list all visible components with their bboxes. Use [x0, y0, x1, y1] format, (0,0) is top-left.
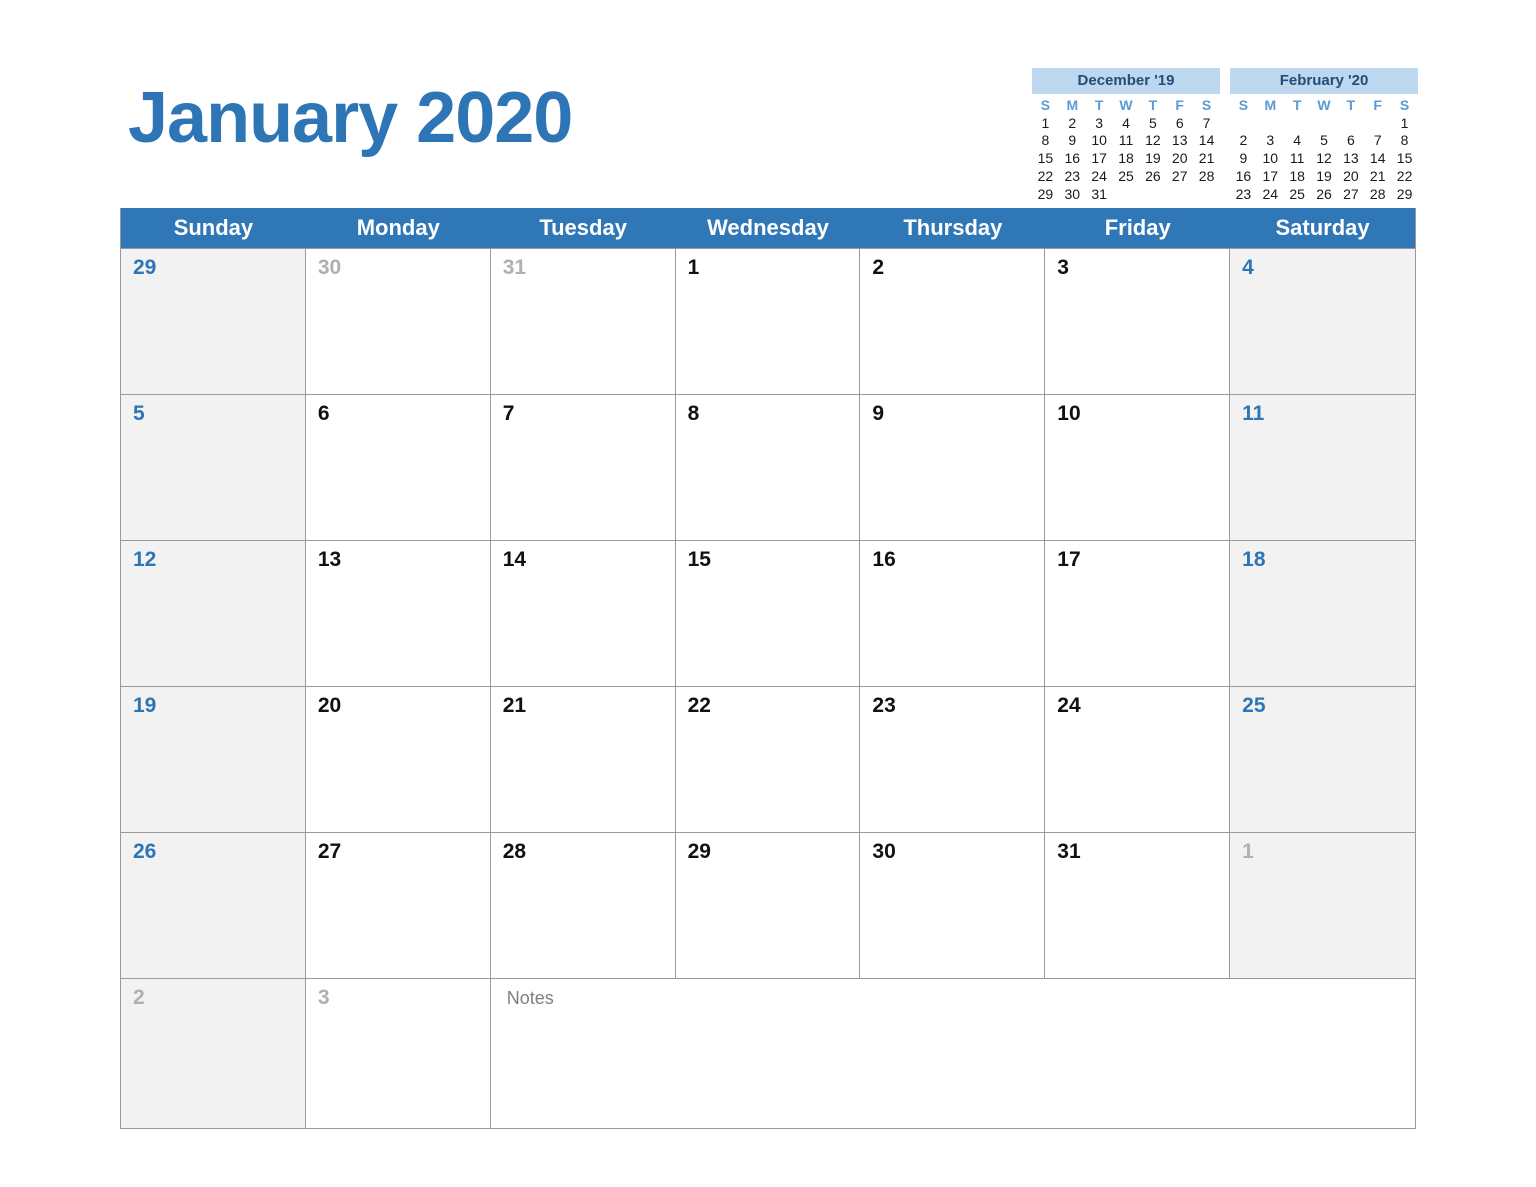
mini-day[interactable]: 5 — [1311, 132, 1338, 150]
mini-day[interactable]: 22 — [1032, 168, 1059, 186]
mini-day[interactable]: 29 — [1391, 186, 1418, 204]
mini-day[interactable]: 18 — [1113, 150, 1140, 168]
week-row: 5 6 7 8 9 10 11 — [121, 394, 1415, 540]
day-number: 1 — [688, 257, 860, 278]
day-number: 2 — [133, 987, 305, 1008]
mini-day[interactable]: 19 — [1139, 150, 1166, 168]
day-number: 15 — [688, 549, 860, 570]
day-number: 29 — [133, 257, 305, 278]
day-cell[interactable]: 17 — [1045, 540, 1230, 686]
day-cell[interactable]: 21 — [491, 686, 676, 832]
mini-day[interactable]: 11 — [1113, 132, 1140, 150]
day-number: 4 — [1242, 257, 1415, 278]
mini-day[interactable]: 20 — [1337, 168, 1364, 186]
day-number: 1 — [1242, 841, 1415, 862]
day-cell[interactable]: 28 — [491, 832, 676, 978]
weekday-header-friday: Friday — [1045, 208, 1230, 248]
week-row: 19 20 21 22 23 24 25 — [121, 686, 1415, 832]
day-number: 16 — [872, 549, 1044, 570]
day-number: 30 — [318, 257, 490, 278]
mini-day[interactable]: 26 — [1311, 186, 1338, 204]
mini-day[interactable]: 4 — [1113, 115, 1140, 133]
mini-dow-wed: W — [1113, 97, 1140, 115]
page-title: January 2020 — [128, 82, 572, 154]
mini-day[interactable]: 28 — [1193, 168, 1220, 186]
notes-field[interactable]: Notes — [491, 978, 1415, 1128]
day-cell[interactable]: 11 — [1230, 394, 1415, 540]
day-cell[interactable]: 2 — [121, 978, 306, 1128]
mini-day[interactable]: 8 — [1032, 132, 1059, 150]
mini-day[interactable]: 12 — [1311, 150, 1338, 168]
day-number: 3 — [1057, 257, 1229, 278]
mini-calendars-group: December '19 S M T W T F S 1 2 3 4 5 6 7… — [1032, 68, 1418, 204]
mini-day[interactable]: 15 — [1391, 150, 1418, 168]
mini-day[interactable]: 17 — [1086, 150, 1113, 168]
mini-day[interactable]: 29 — [1032, 186, 1059, 204]
mini-day-blank — [1311, 115, 1338, 133]
day-cell[interactable]: 6 — [306, 394, 491, 540]
mini-dow-fri: F — [1364, 97, 1391, 115]
mini-dow-thu: T — [1337, 97, 1364, 115]
mini-day[interactable]: 6 — [1166, 115, 1193, 133]
day-number: 30 — [872, 841, 1044, 862]
day-cell[interactable]: 16 — [860, 540, 1045, 686]
day-cell[interactable]: 31 — [491, 248, 676, 394]
mini-calendar-title-december: December '19 — [1032, 68, 1220, 94]
day-number: 29 — [688, 841, 860, 862]
mini-day[interactable]: 20 — [1166, 150, 1193, 168]
day-cell[interactable]: 23 — [860, 686, 1045, 832]
day-cell[interactable]: 1 — [676, 248, 861, 394]
mini-day[interactable]: 3 — [1257, 132, 1284, 150]
day-number: 8 — [688, 403, 860, 424]
day-number: 21 — [503, 695, 675, 716]
day-number: 6 — [318, 403, 490, 424]
week-row: 29 30 31 1 2 3 4 — [121, 248, 1415, 394]
day-cell[interactable]: 3 — [1045, 248, 1230, 394]
mini-day[interactable]: 21 — [1193, 150, 1220, 168]
day-cell[interactable]: 26 — [121, 832, 306, 978]
mini-day[interactable]: 25 — [1284, 186, 1311, 204]
mini-day[interactable]: 3 — [1086, 115, 1113, 133]
mini-dow-tue: T — [1086, 97, 1113, 115]
mini-calendar-grid-february: S M T W T F S 1 2 3 4 5 6 7 — [1230, 97, 1418, 204]
mini-day[interactable]: 1 — [1032, 115, 1059, 133]
mini-calendar-february-2020[interactable]: February '20 S M T W T F S 1 2 3 4 — [1230, 68, 1418, 204]
day-cell[interactable]: 29 — [676, 832, 861, 978]
day-number: 31 — [503, 257, 675, 278]
mini-day[interactable]: 16 — [1230, 168, 1257, 186]
mini-day-blank — [1230, 115, 1257, 133]
month-calendar-grid: Sunday Monday Tuesday Wednesday Thursday… — [120, 208, 1416, 1129]
mini-day[interactable]: 4 — [1284, 132, 1311, 150]
day-cell[interactable]: 30 — [860, 832, 1045, 978]
mini-dow-sat: S — [1193, 97, 1220, 115]
day-cell[interactable]: 25 — [1230, 686, 1415, 832]
mini-day[interactable]: 19 — [1311, 168, 1338, 186]
day-cell[interactable]: 15 — [676, 540, 861, 686]
mini-dow-sat: S — [1391, 97, 1418, 115]
mini-dow-tue: T — [1284, 97, 1311, 115]
day-cell[interactable]: 14 — [491, 540, 676, 686]
mini-day-blank — [1113, 186, 1140, 204]
day-cell[interactable]: 3 — [306, 978, 491, 1128]
day-number: 20 — [318, 695, 490, 716]
mini-day[interactable]: 21 — [1364, 168, 1391, 186]
day-cell[interactable]: 1 — [1230, 832, 1415, 978]
weekday-header-saturday: Saturday — [1230, 208, 1415, 248]
day-number: 2 — [872, 257, 1044, 278]
day-number: 18 — [1242, 549, 1415, 570]
mini-day[interactable]: 18 — [1284, 168, 1311, 186]
day-number: 28 — [503, 841, 675, 862]
day-cell[interactable]: 29 — [121, 248, 306, 394]
notes-label: Notes — [507, 989, 1415, 1007]
day-number: 7 — [503, 403, 675, 424]
weekday-header-thursday: Thursday — [860, 208, 1045, 248]
day-cell[interactable]: 5 — [121, 394, 306, 540]
mini-calendar-grid-december: S M T W T F S 1 2 3 4 5 6 7 8 9 10 11 12… — [1032, 97, 1220, 204]
mini-day-blank — [1139, 186, 1166, 204]
day-cell[interactable]: 7 — [491, 394, 676, 540]
mini-dow-mon: M — [1257, 97, 1284, 115]
day-cell[interactable]: 19 — [121, 686, 306, 832]
mini-day[interactable]: 26 — [1139, 168, 1166, 186]
mini-day[interactable]: 30 — [1059, 186, 1086, 204]
mini-day[interactable]: 25 — [1113, 168, 1140, 186]
day-number: 31 — [1057, 841, 1229, 862]
day-cell[interactable]: 12 — [121, 540, 306, 686]
notes-row: 2 3 Notes — [121, 978, 1415, 1128]
mini-day[interactable]: 17 — [1257, 168, 1284, 186]
mini-day[interactable]: 6 — [1337, 132, 1364, 150]
day-cell[interactable]: 2 — [860, 248, 1045, 394]
mini-day[interactable]: 28 — [1364, 186, 1391, 204]
mini-day[interactable]: 22 — [1391, 168, 1418, 186]
mini-day[interactable]: 10 — [1086, 132, 1113, 150]
week-row: 12 13 14 15 16 17 18 — [121, 540, 1415, 686]
mini-day[interactable]: 24 — [1257, 186, 1284, 204]
mini-day[interactable]: 12 — [1139, 132, 1166, 150]
weekday-header-row: Sunday Monday Tuesday Wednesday Thursday… — [121, 208, 1415, 248]
day-cell[interactable]: 27 — [306, 832, 491, 978]
mini-day[interactable]: 14 — [1364, 150, 1391, 168]
mini-day[interactable]: 7 — [1193, 115, 1220, 133]
mini-dow-sun: S — [1032, 97, 1059, 115]
day-cell[interactable]: 22 — [676, 686, 861, 832]
mini-day-blank — [1284, 115, 1311, 133]
mini-day[interactable]: 9 — [1059, 132, 1086, 150]
day-number: 9 — [872, 403, 1044, 424]
mini-day[interactable]: 11 — [1284, 150, 1311, 168]
day-cell[interactable]: 10 — [1045, 394, 1230, 540]
mini-day[interactable]: 2 — [1230, 132, 1257, 150]
day-number: 19 — [133, 695, 305, 716]
mini-dow-mon: M — [1059, 97, 1086, 115]
mini-day[interactable]: 7 — [1364, 132, 1391, 150]
day-cell[interactable]: 4 — [1230, 248, 1415, 394]
weekday-header-sunday: Sunday — [121, 208, 306, 248]
day-cell[interactable]: 9 — [860, 394, 1045, 540]
mini-day-blank — [1193, 186, 1220, 204]
weekday-header-wednesday: Wednesday — [676, 208, 861, 248]
mini-day[interactable]: 27 — [1166, 168, 1193, 186]
mini-day-blank — [1166, 186, 1193, 204]
mini-dow-sun: S — [1230, 97, 1257, 115]
day-number: 11 — [1242, 403, 1415, 424]
mini-day-blank — [1257, 115, 1284, 133]
day-number: 17 — [1057, 549, 1229, 570]
day-number: 10 — [1057, 403, 1229, 424]
day-number: 23 — [872, 695, 1044, 716]
mini-calendar-title-february: February '20 — [1230, 68, 1418, 94]
mini-day[interactable]: 10 — [1257, 150, 1284, 168]
day-number: 14 — [503, 549, 675, 570]
day-cell[interactable]: 13 — [306, 540, 491, 686]
mini-day-blank — [1337, 115, 1364, 133]
mini-day[interactable]: 5 — [1139, 115, 1166, 133]
day-cell[interactable]: 30 — [306, 248, 491, 394]
day-number: 25 — [1242, 695, 1415, 716]
day-number: 13 — [318, 549, 490, 570]
mini-day[interactable]: 16 — [1059, 150, 1086, 168]
mini-day[interactable]: 23 — [1059, 168, 1086, 186]
mini-day[interactable]: 14 — [1193, 132, 1220, 150]
day-number: 27 — [318, 841, 490, 862]
mini-day[interactable]: 1 — [1391, 115, 1418, 133]
day-cell[interactable]: 31 — [1045, 832, 1230, 978]
day-cell[interactable]: 8 — [676, 394, 861, 540]
mini-day[interactable]: 8 — [1391, 132, 1418, 150]
mini-day[interactable]: 23 — [1230, 186, 1257, 204]
mini-day-blank — [1364, 115, 1391, 133]
day-number: 22 — [688, 695, 860, 716]
day-number: 26 — [133, 841, 305, 862]
day-cell[interactable]: 18 — [1230, 540, 1415, 686]
day-number: 24 — [1057, 695, 1229, 716]
mini-day[interactable]: 13 — [1337, 150, 1364, 168]
mini-dow-wed: W — [1311, 97, 1338, 115]
day-cell[interactable]: 24 — [1045, 686, 1230, 832]
mini-dow-fri: F — [1166, 97, 1193, 115]
day-cell[interactable]: 20 — [306, 686, 491, 832]
mini-day[interactable]: 31 — [1086, 186, 1113, 204]
mini-calendar-december-2019[interactable]: December '19 S M T W T F S 1 2 3 4 5 6 7… — [1032, 68, 1220, 204]
week-row: 26 27 28 29 30 31 1 — [121, 832, 1415, 978]
day-number: 3 — [318, 987, 490, 1008]
mini-day[interactable]: 27 — [1337, 186, 1364, 204]
mini-day[interactable]: 9 — [1230, 150, 1257, 168]
mini-day[interactable]: 13 — [1166, 132, 1193, 150]
calendar-header-area: January 2020 December '19 S M T W T F S … — [0, 0, 1536, 208]
mini-dow-thu: T — [1139, 97, 1166, 115]
day-number: 12 — [133, 549, 305, 570]
mini-day[interactable]: 15 — [1032, 150, 1059, 168]
day-number: 5 — [133, 403, 305, 424]
mini-day[interactable]: 2 — [1059, 115, 1086, 133]
mini-day[interactable]: 24 — [1086, 168, 1113, 186]
weekday-header-tuesday: Tuesday — [491, 208, 676, 248]
weekday-header-monday: Monday — [306, 208, 491, 248]
